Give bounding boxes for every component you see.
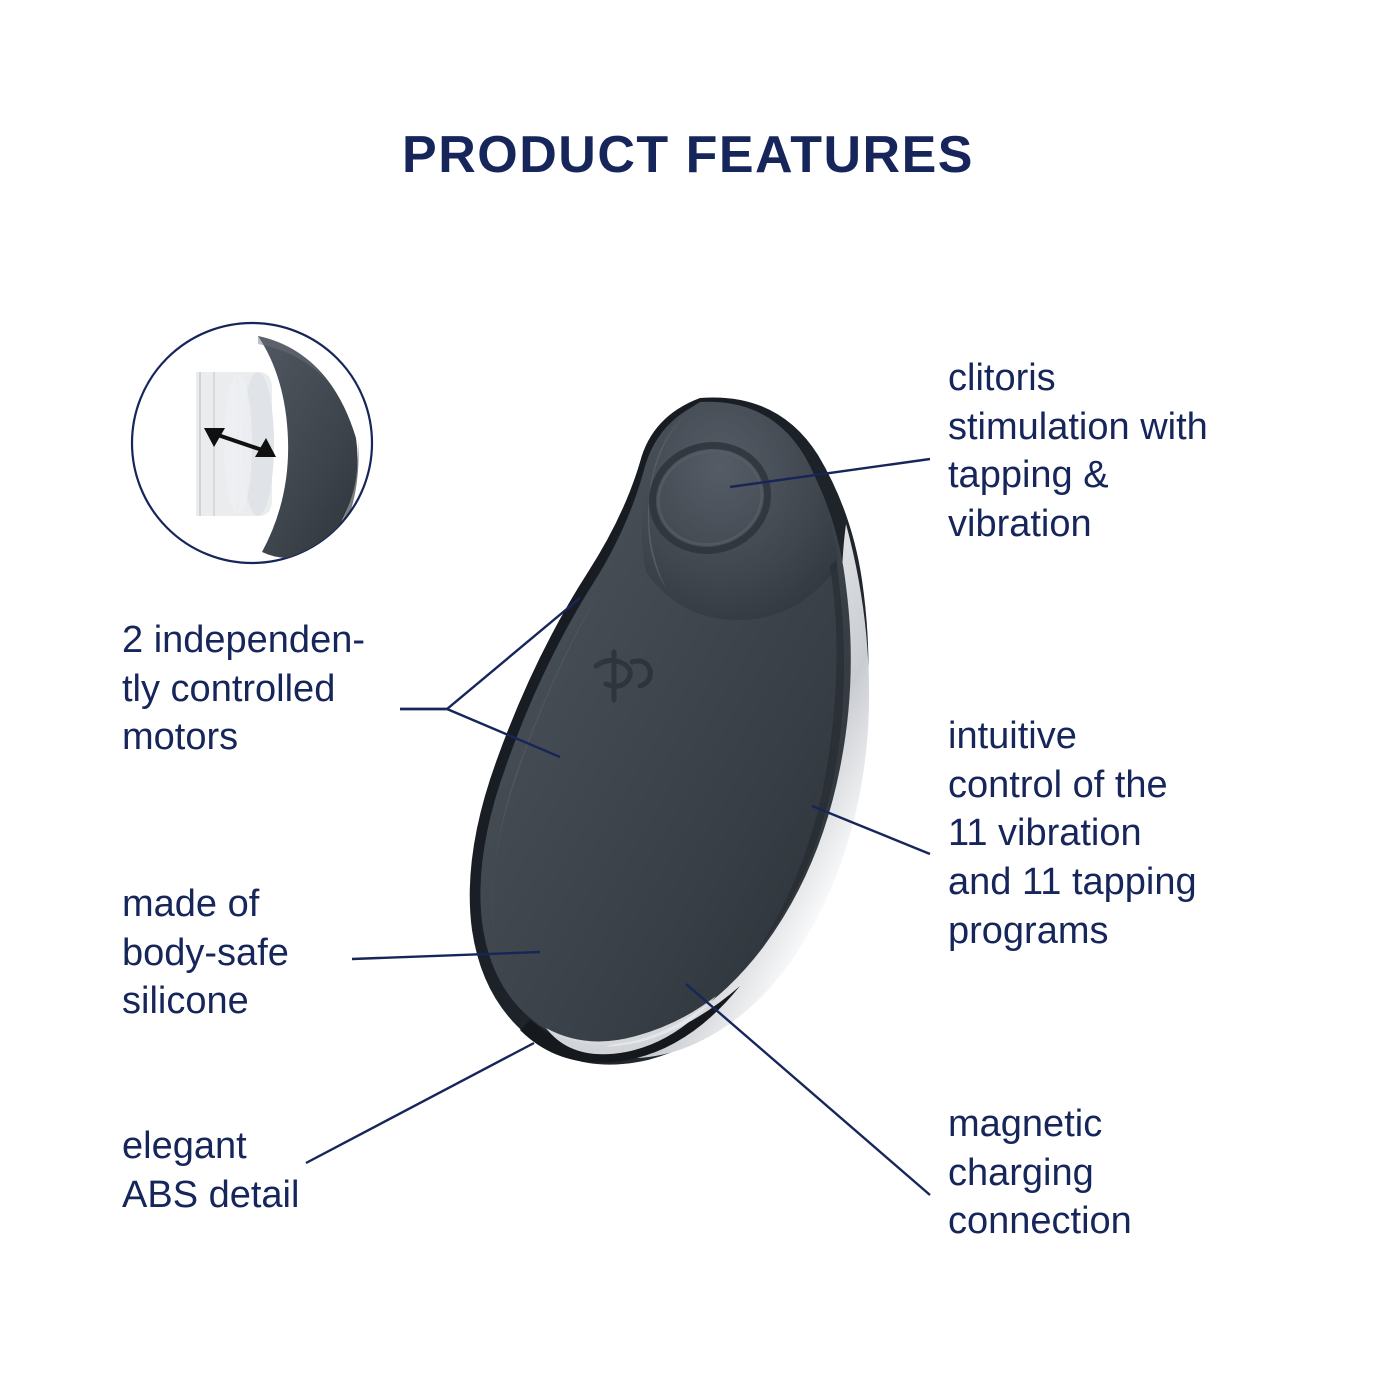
- product-illustration: [470, 397, 869, 1064]
- device-body: [480, 404, 850, 1045]
- callout-intuitive: intuitive control of the 11 vibration an…: [948, 712, 1268, 955]
- magnetic-charging-cap: [520, 986, 740, 1063]
- motor-direction-arrow: [204, 428, 276, 457]
- abs-silver-band: [584, 524, 869, 1058]
- callout-abs-detail: elegant ABS detail: [122, 1122, 422, 1219]
- callout-motors: 2 independen- tly controlled motors: [122, 616, 442, 762]
- leader-lines: [306, 459, 930, 1195]
- page-title: PRODUCT FEATURES: [0, 125, 1376, 185]
- stimulation-opening: [640, 432, 780, 564]
- callout-silicone: made of body-safe silicone: [122, 880, 422, 1026]
- detail-inset-group: [132, 323, 372, 563]
- brand-logo-emboss: [596, 652, 650, 700]
- callout-magnetic: magnetic charging connection: [948, 1100, 1248, 1246]
- callout-clitoris: clitoris stimulation with tapping & vibr…: [948, 354, 1278, 549]
- device-head: [642, 402, 838, 620]
- product-features-infographic: PRODUCT FEATURES: [0, 0, 1376, 1376]
